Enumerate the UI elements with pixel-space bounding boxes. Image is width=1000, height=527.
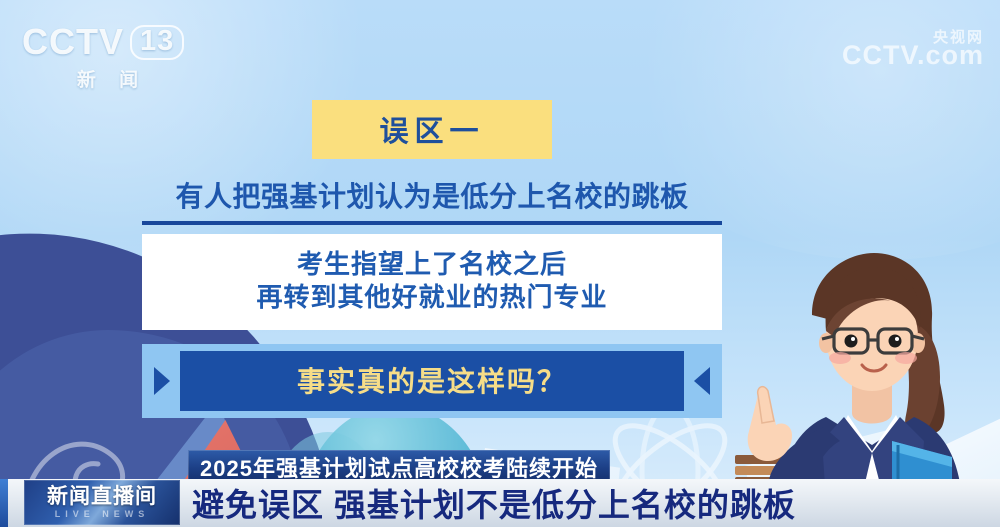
info-graphic-panel: 误区一 有人把强基计划认为是低分上名校的跳板 考生指望上了名校之后 再转到其他好… xyxy=(142,100,722,418)
watermark-domain-text: CCTV.com xyxy=(842,42,984,69)
detail-line-1: 考生指望上了名校之后 xyxy=(152,248,712,281)
misconception-badge: 误区一 xyxy=(312,100,552,159)
arrow-right-icon xyxy=(150,364,172,398)
main-headline: 避免误区 强基计划不是低分上名校的跳板 xyxy=(192,480,796,526)
question-bar: 事实真的是这样吗？ xyxy=(180,351,684,411)
cctv-channel-logo: CCTV 13 新 闻 xyxy=(22,24,202,86)
program-logo: 新闻直播间 LIVE NEWS xyxy=(24,480,180,525)
detail-white-panel: 考生指望上了名校之后 再转到其他好就业的热门专业 xyxy=(142,234,722,330)
channel-subtitle: 新 闻 xyxy=(22,65,202,92)
cctv-com-watermark: 央视网 CCTV.com xyxy=(842,30,984,69)
cctv-logo-wordmark: CCTV 13 xyxy=(22,24,202,60)
program-name-en: LIVE NEWS xyxy=(55,510,150,519)
cctv-logo-text: CCTV xyxy=(22,24,124,60)
arrow-left-icon xyxy=(692,364,714,398)
question-frame: 事实真的是这样吗？ xyxy=(142,344,722,418)
channel-number-badge: 13 xyxy=(130,25,184,60)
detail-line-2: 再转到其他好就业的热门专业 xyxy=(152,281,712,314)
misconception-headline: 有人把强基计划认为是低分上名校的跳板 xyxy=(142,175,722,215)
program-name-cn: 新闻直播间 xyxy=(47,486,157,507)
headline-divider xyxy=(142,221,722,225)
broadcast-screen: CCTV 13 新 闻 央视网 CCTV.com 误区一 有人把强基计划认为是低… xyxy=(0,0,1000,527)
headline-bar-accent xyxy=(0,479,8,527)
